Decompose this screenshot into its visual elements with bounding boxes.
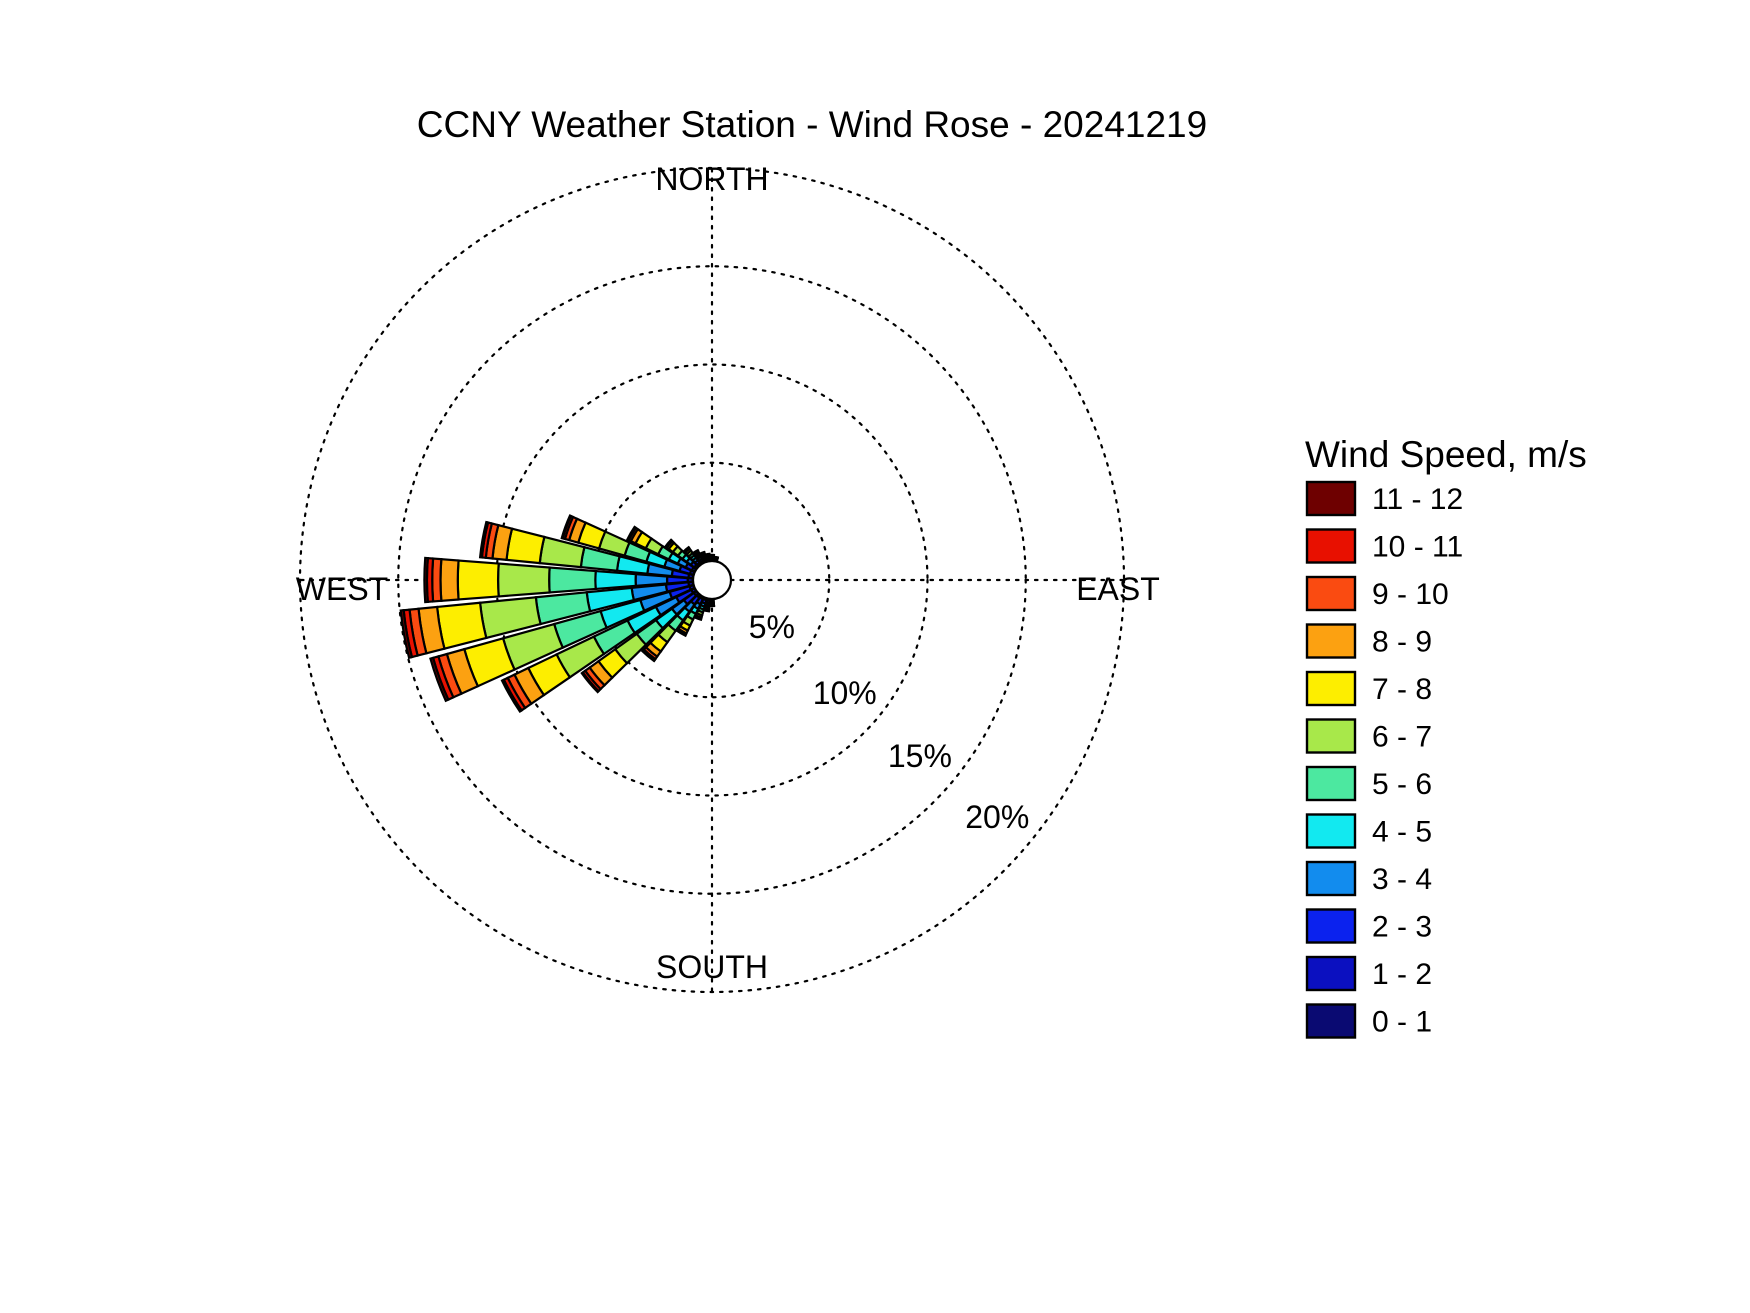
legend-swatch	[1307, 577, 1355, 610]
legend-swatch	[1307, 482, 1355, 515]
radial-tick-label-20: 20%	[965, 799, 1029, 835]
legend-label: 10 - 11	[1372, 531, 1463, 564]
petal-segment	[498, 564, 550, 597]
petal-segment	[700, 552, 704, 554]
legend-swatch	[1307, 862, 1355, 895]
petal-segment	[714, 557, 718, 558]
legend-label: 6 - 7	[1372, 721, 1432, 754]
legend-label: 9 - 10	[1372, 578, 1449, 611]
legend-label: 8 - 9	[1372, 626, 1432, 659]
legend-label: 0 - 1	[1372, 1006, 1432, 1039]
petal-segment	[437, 603, 486, 649]
radial-tick-label-5: 5%	[749, 609, 795, 645]
legend-label: 1 - 2	[1372, 958, 1432, 991]
legend-swatch	[1307, 625, 1355, 658]
compass-label-south: SOUTH	[656, 949, 768, 985]
wind-rose-petals	[401, 516, 718, 712]
page-title: CCNY Weather Station - Wind Rose - 20241…	[417, 104, 1207, 145]
legend-swatch	[1307, 672, 1355, 705]
compass-label-north: NORTH	[655, 161, 768, 197]
legend-swatch	[1307, 815, 1355, 848]
legend-label: 7 - 8	[1372, 673, 1432, 706]
radial-tick-label-10: 10%	[813, 675, 877, 711]
windrose-page: CCNY Weather Station - Wind Rose - 20241…	[0, 0, 1750, 1313]
wind-rose-figure: CCNY Weather Station - Wind Rose - 20241…	[0, 0, 1750, 1313]
petal-segment	[705, 554, 709, 555]
legend-swatch	[1307, 530, 1355, 563]
petal-segment	[424, 558, 427, 602]
petal-segment	[458, 561, 499, 600]
compass-label-west: WEST	[296, 571, 388, 607]
legend-label: 5 - 6	[1372, 768, 1432, 801]
petal-segment	[507, 529, 545, 563]
legend-swatch	[1307, 910, 1355, 943]
legend: 11 - 1210 - 119 - 108 - 97 - 86 - 75 - 6…	[1307, 482, 1463, 1039]
legend-swatch	[1307, 767, 1355, 800]
legend-swatch	[1307, 1005, 1355, 1038]
petal-segment	[440, 559, 458, 601]
petal-segment	[549, 568, 596, 593]
legend-swatch	[1307, 957, 1355, 990]
petal-segment	[704, 610, 709, 611]
legend-title: Wind Speed, m/s	[1305, 434, 1587, 475]
legend-label: 4 - 5	[1372, 816, 1432, 849]
radial-tick-label-15: 15%	[888, 738, 952, 774]
petal-segment	[595, 571, 636, 589]
legend-label: 11 - 12	[1372, 483, 1463, 516]
legend-label: 3 - 4	[1372, 863, 1432, 896]
legend-swatch	[1307, 720, 1355, 753]
calm-center-circle	[693, 561, 731, 599]
legend-label: 2 - 3	[1372, 911, 1432, 944]
compass-label-east: EAST	[1076, 571, 1160, 607]
radial-tick-labels: 5%10%15%20%	[749, 609, 1030, 835]
